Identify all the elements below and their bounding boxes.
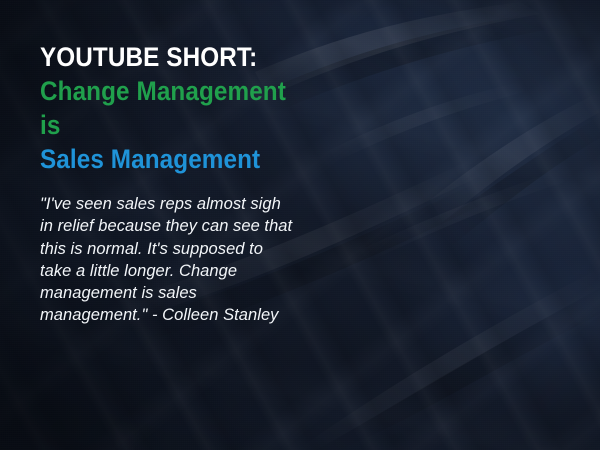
headline-line-3: Sales Management [40, 142, 310, 176]
slide-content: YOUTUBE SHORT: Change Management is Sale… [40, 40, 340, 327]
quote-text: "I've seen sales reps almost sigh in rel… [40, 193, 298, 327]
slide-canvas: YOUTUBE SHORT: Change Management is Sale… [0, 0, 600, 450]
slide-headline: YOUTUBE SHORT: Change Management is Sale… [40, 40, 310, 176]
headline-line-1: YOUTUBE SHORT: [40, 40, 310, 74]
headline-line-2: Change Management is [40, 74, 310, 142]
